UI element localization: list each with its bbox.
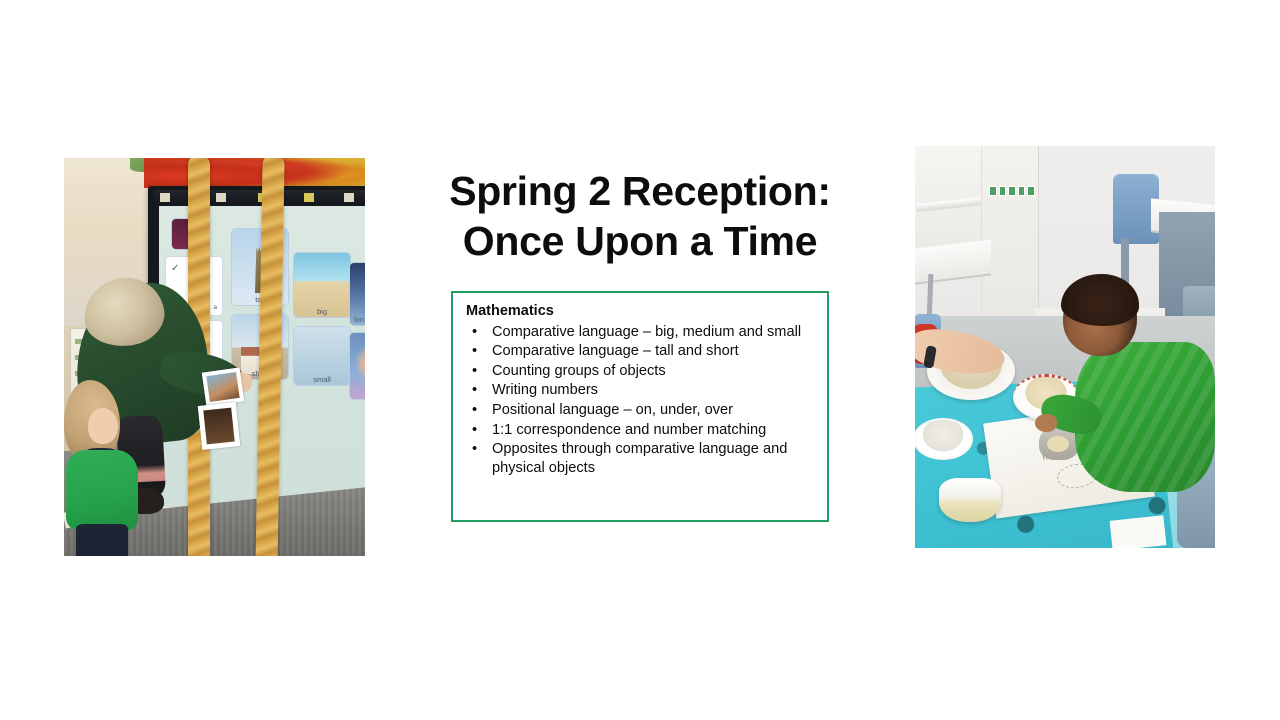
bullet-glyph: •: [472, 362, 477, 381]
photo-child-face: [88, 408, 118, 444]
photo-white-bowl: [915, 418, 973, 460]
photo-green-tile-strip: [989, 186, 1035, 196]
slide-title-line-1: Spring 2 Reception:: [400, 166, 880, 216]
list-item: • Comparative language – tall and short: [464, 342, 816, 361]
photo-child-hand: [1035, 414, 1057, 432]
list-item-label: Opposites through comparative language a…: [492, 441, 787, 476]
photo-picture-card-lower: [198, 402, 240, 450]
list-item-label: Comparative language – tall and short: [492, 343, 739, 359]
content-box-bullet-list: • Comparative language – big, medium and…: [464, 323, 816, 479]
list-item: • Counting groups of objects: [464, 362, 816, 381]
list-item-label: 1:1 correspondence and number matching: [492, 422, 766, 438]
photo-child-trousers: [76, 524, 128, 556]
photo-screen-card-small: small: [293, 326, 351, 386]
classroom-cooking-photo: small: [915, 146, 1215, 548]
bullet-glyph: •: [472, 421, 477, 440]
bullet-glyph: •: [472, 342, 477, 361]
photo-picture-card-upper: [202, 368, 244, 407]
bullet-glyph: •: [472, 401, 477, 420]
bullet-glyph: •: [472, 440, 477, 459]
list-item: • 1:1 correspondence and number matching: [464, 421, 816, 440]
content-box-heading: Mathematics: [466, 302, 816, 322]
list-item-label: Writing numbers: [492, 382, 598, 398]
list-item: • Opposites through comparative language…: [464, 440, 816, 478]
photo-child-hair: [1061, 274, 1139, 326]
photo-stacked-bowls: [939, 478, 1001, 522]
list-item: • Comparative language – big, medium and…: [464, 323, 816, 342]
list-item: • Writing numbers: [464, 381, 816, 400]
slide-canvas: ✓ ◯ I can sing a cat tall big lo: [0, 0, 1280, 720]
bullet-glyph: •: [472, 381, 477, 400]
photo-screen-card-long: lon: [349, 262, 365, 326]
photo-screen-card-short-2: short: [349, 332, 365, 400]
mathematics-content-box: Mathematics • Comparative language – big…: [451, 291, 829, 522]
photo-paper-sheet: [1110, 515, 1167, 548]
slide-title: Spring 2 Reception: Once Upon a Time: [400, 166, 880, 267]
photo-screen-card-big: big: [293, 252, 351, 318]
list-item-label: Comparative language – big, medium and s…: [492, 324, 801, 340]
list-item: • Positional language – on, under, over: [464, 401, 816, 420]
list-item-label: Positional language – on, under, over: [492, 402, 733, 418]
photo-whiteboard-top-bar: [154, 190, 365, 204]
photo-red-fabric-display: [144, 158, 365, 188]
classroom-whiteboard-photo: ✓ ◯ I can sing a cat tall big lo: [64, 158, 365, 556]
list-item-label: Counting groups of objects: [492, 363, 666, 379]
photo-child-jumper: [66, 450, 138, 530]
slide-title-line-2: Once Upon a Time: [400, 216, 880, 266]
bullet-glyph: •: [472, 323, 477, 342]
